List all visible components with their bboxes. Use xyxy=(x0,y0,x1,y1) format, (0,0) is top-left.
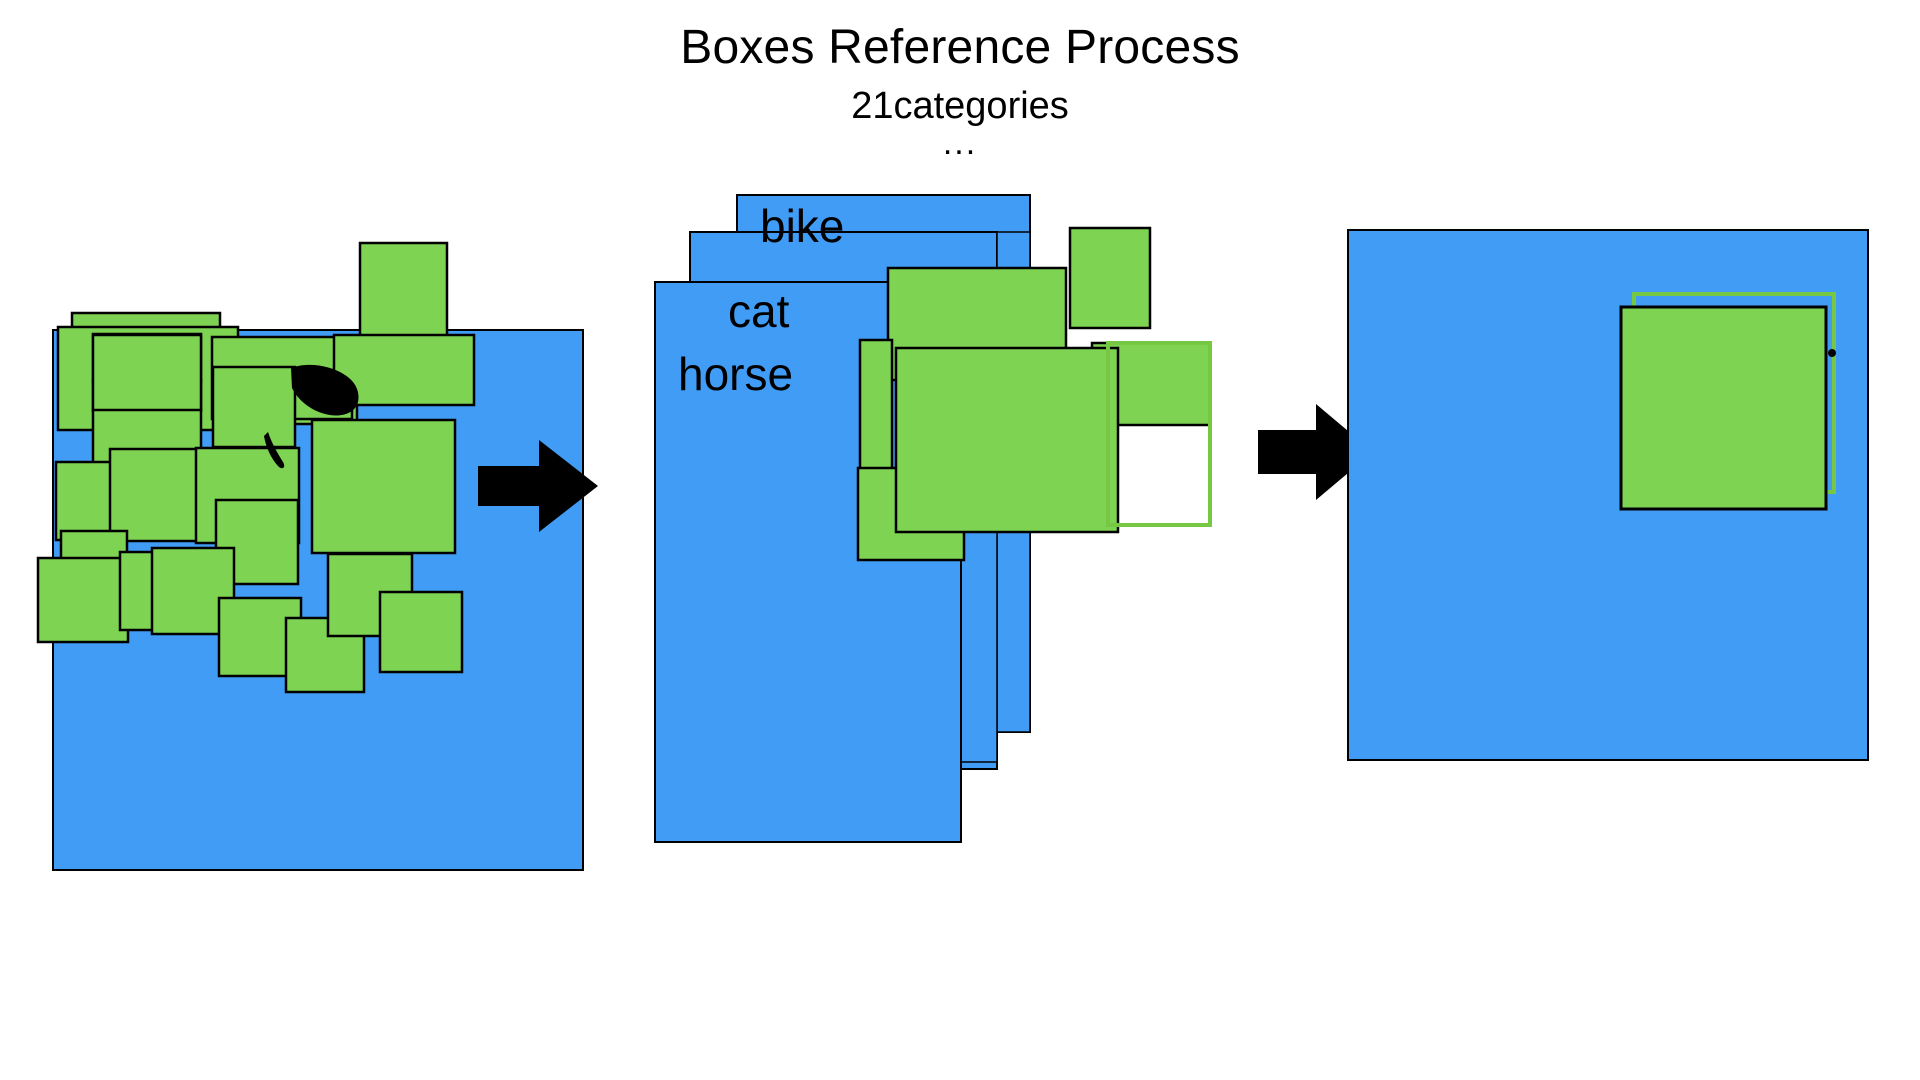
per-category-panels[interactable]: bike cat horse xyxy=(655,195,1210,842)
final-selected-panel[interactable] xyxy=(1348,230,1868,760)
category-label-bike: bike xyxy=(760,200,844,252)
reference-box xyxy=(1621,307,1826,509)
category-box xyxy=(1070,228,1150,328)
candidate-box xyxy=(360,243,447,348)
all-boxes-panel[interactable] xyxy=(38,243,583,870)
category-label-cat: cat xyxy=(728,285,790,337)
category-box xyxy=(896,348,1118,532)
candidate-box xyxy=(312,420,455,553)
edge-marker-dot xyxy=(1828,349,1836,357)
candidate-box xyxy=(380,592,462,672)
candidate-box xyxy=(110,449,208,541)
diagram-canvas: bike cat horse xyxy=(0,0,1920,1080)
candidate-box xyxy=(213,367,295,447)
candidate-box xyxy=(93,335,201,411)
all-boxes-group xyxy=(38,243,474,692)
category-boxes-group xyxy=(858,228,1210,560)
category-label-horse: horse xyxy=(678,348,793,400)
candidate-box xyxy=(38,558,128,642)
